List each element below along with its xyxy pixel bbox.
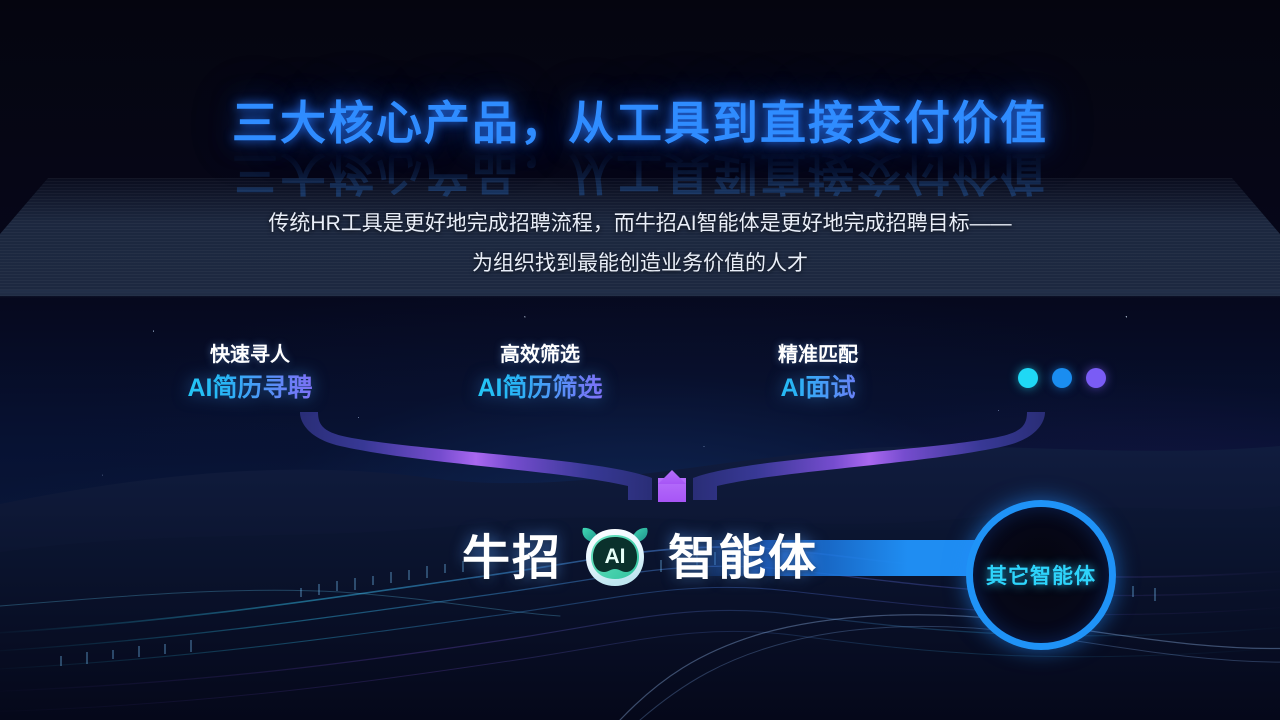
product-name-3: AI面试 [718, 371, 918, 405]
product-name-1: AI简历寻聘 [150, 371, 350, 405]
page-title-reflection: 三大核心产品，从工具到直接交付价值 [0, 145, 1280, 200]
ellipsis-dot-3 [1086, 368, 1106, 388]
panel-bottom-edge [0, 290, 1280, 298]
title-block: 三大核心产品，从工具到直接交付价值 三大核心产品，从工具到直接交付价值 [0, 96, 1280, 200]
slide-canvas: 三大核心产品，从工具到直接交付价值 三大核心产品，从工具到直接交付价值 传统HR… [0, 0, 1280, 720]
ellipsis-dot-2 [1052, 368, 1072, 388]
product-tagline-3: 精准匹配 [718, 342, 918, 368]
convergence-funnel-graphic [0, 400, 1280, 510]
page-title: 三大核心产品，从工具到直接交付价值 [0, 96, 1280, 151]
product-item-1[interactable]: 快速寻人 AI简历寻聘 [150, 342, 350, 405]
product-tagline-1: 快速寻人 [150, 342, 350, 368]
subtitle-block: 传统HR工具是更好地完成招聘流程，而牛招AI智能体是更好地完成招聘目标—— 为组… [0, 204, 1280, 284]
connector-bar [690, 540, 1010, 576]
ellipsis-dot-1 [1018, 368, 1038, 388]
more-products-ellipsis[interactable] [1018, 368, 1106, 388]
product-item-3[interactable]: 精准匹配 AI面试 [718, 342, 918, 405]
subtitle-line-1: 传统HR工具是更好地完成招聘流程，而牛招AI智能体是更好地完成招聘目标—— [0, 204, 1280, 244]
subtitle-line-2: 为组织找到最能创造业务价值的人才 [0, 244, 1280, 284]
other-agent-label: 其它智能体 [986, 560, 1096, 590]
product-name-2: AI简历筛选 [440, 371, 640, 405]
product-tagline-2: 高效筛选 [440, 342, 640, 368]
product-item-2[interactable]: 高效筛选 AI简历筛选 [440, 342, 640, 405]
other-agent-circle[interactable]: 其它智能体 [966, 500, 1116, 650]
